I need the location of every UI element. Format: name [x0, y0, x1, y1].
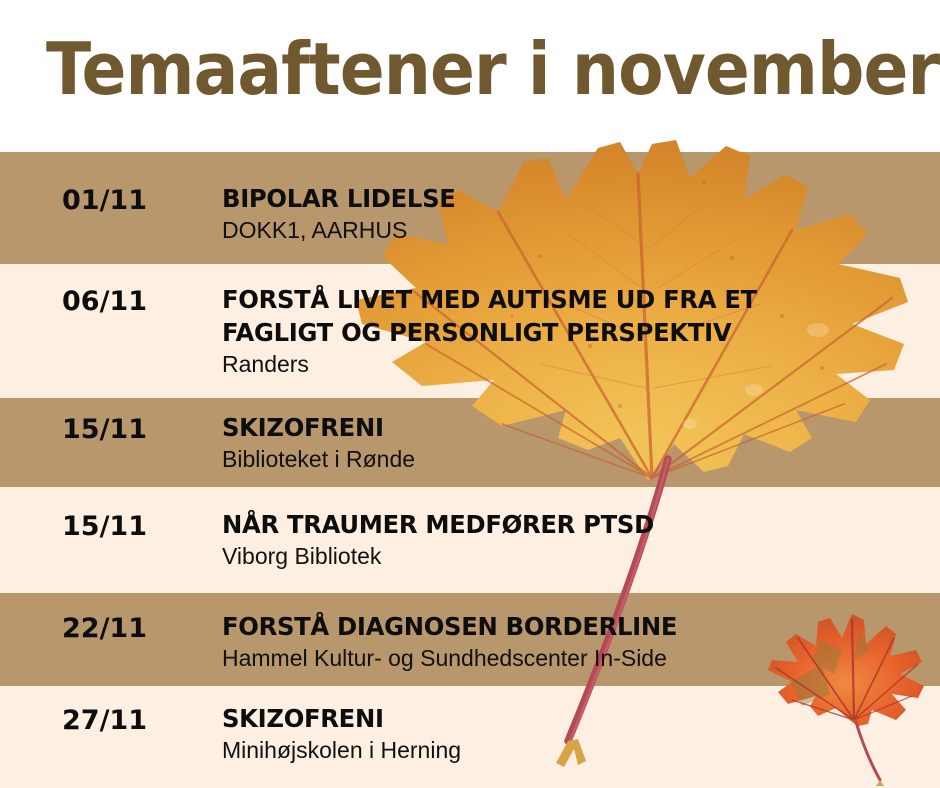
- event-venue: Viborg Bibliotek: [222, 541, 922, 571]
- event-body: FORSTÅ DIAGNOSEN BORDERLINE Hammel Kultu…: [222, 610, 922, 673]
- event-list: 01/11 BIPOLAR LIDELSE DOKK1, AARHUS 06/1…: [0, 0, 940, 788]
- event-poster: Temaaftener i november: [0, 0, 940, 788]
- list-item: 27/11 SKIZOFRENI Minihøjskolen i Herning: [0, 686, 940, 788]
- list-item: 15/11 SKIZOFRENI Biblioteket i Rønde: [0, 398, 940, 487]
- event-title: NÅR TRAUMER MEDFØRER PTSD: [222, 508, 901, 541]
- event-body: NÅR TRAUMER MEDFØRER PTSD Viborg Bibliot…: [222, 508, 922, 571]
- event-venue: Minihøjskolen i Herning: [222, 735, 922, 765]
- event-title: SKIZOFRENI: [222, 702, 901, 735]
- event-title: FORSTÅ DIAGNOSEN BORDERLINE: [222, 610, 901, 643]
- event-body: BIPOLAR LIDELSE DOKK1, AARHUS: [222, 182, 922, 245]
- event-title: SKIZOFRENI: [222, 411, 901, 444]
- event-body: SKIZOFRENI Minihøjskolen i Herning: [222, 702, 922, 765]
- list-item: 22/11 FORSTÅ DIAGNOSEN BORDERLINE Hammel…: [0, 593, 940, 686]
- event-body: FORSTÅ LIVET MED AUTISME UD FRA ET FAGLI…: [222, 283, 922, 379]
- list-item: 01/11 BIPOLAR LIDELSE DOKK1, AARHUS: [0, 152, 940, 264]
- event-venue: DOKK1, AARHUS: [222, 215, 922, 245]
- event-venue: Randers: [222, 349, 922, 379]
- event-date: 06/11: [62, 286, 147, 318]
- event-date: 27/11: [62, 705, 147, 737]
- event-date: 15/11: [62, 414, 147, 446]
- event-venue: Biblioteket i Rønde: [222, 444, 922, 474]
- event-title: FORSTÅ LIVET MED AUTISME UD FRA ET FAGLI…: [222, 283, 901, 349]
- event-venue: Hammel Kultur- og Sundhedscenter In-Side: [222, 643, 922, 673]
- event-body: SKIZOFRENI Biblioteket i Rønde: [222, 411, 922, 474]
- event-date: 22/11: [62, 613, 147, 645]
- list-item: 15/11 NÅR TRAUMER MEDFØRER PTSD Viborg B…: [0, 487, 940, 593]
- event-date: 15/11: [62, 511, 147, 543]
- list-item: 06/11 FORSTÅ LIVET MED AUTISME UD FRA ET…: [0, 264, 940, 398]
- event-title: BIPOLAR LIDELSE: [222, 182, 901, 215]
- event-date: 01/11: [62, 185, 147, 217]
